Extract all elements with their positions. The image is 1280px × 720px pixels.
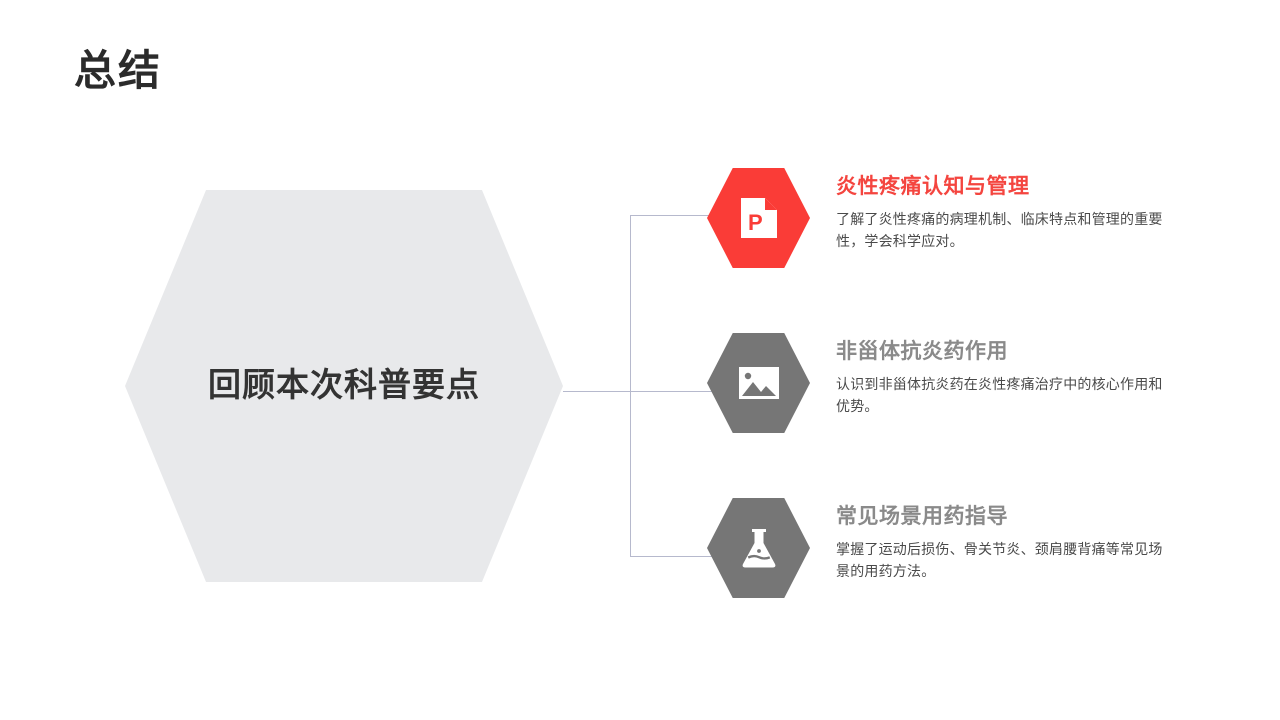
summary-item-1-description: 了解了炎性疼痛的病理机制、临床特点和管理的重要性，学会科学应对。: [836, 209, 1176, 252]
summary-item-1-title: 炎性疼痛认知与管理: [836, 174, 1176, 199]
central-hexagon: 回顾本次科普要点: [125, 190, 563, 582]
summary-item-3-description: 掌握了运动后损伤、骨关节炎、颈肩腰背痛等常见场景的用药方法。: [836, 539, 1176, 582]
hexagon-badge-3[interactable]: [707, 498, 810, 598]
hexagon-badge-2[interactable]: [707, 333, 810, 433]
slide-canvas: 总结 回顾本次科普要点 P 炎性疼痛认知与管理: [0, 0, 1280, 720]
connector-spine: [630, 215, 631, 557]
summary-item-3[interactable]: 常见场景用药指导 掌握了运动后损伤、骨关节炎、颈肩腰背痛等常见场景的用药方法。: [707, 498, 1177, 618]
central-hexagon-label: 回顾本次科普要点: [208, 358, 480, 406]
hexagon-badge-1-wrapper: P: [707, 168, 810, 268]
summary-item-2[interactable]: 非甾体抗炎药作用 认识到非甾体抗炎药在炎性疼痛治疗中的核心作用和优势。: [707, 333, 1177, 453]
page-title: 总结: [74, 48, 162, 94]
flask-lab-icon: [739, 526, 779, 570]
summary-item-3-title: 常见场景用药指导: [836, 504, 1176, 529]
hexagon-badge-1[interactable]: P: [707, 168, 810, 268]
summary-item-2-description: 认识到非甾体抗炎药在炎性疼痛治疗中的核心作用和优势。: [836, 374, 1176, 417]
summary-item-2-title: 非甾体抗炎药作用: [836, 339, 1176, 364]
hexagon-badge-3-wrapper: [707, 498, 810, 598]
summary-item-1-text: 炎性疼痛认知与管理 了解了炎性疼痛的病理机制、临床特点和管理的重要性，学会科学应…: [836, 174, 1176, 253]
image-picture-icon: [738, 366, 780, 400]
summary-item-2-text: 非甾体抗炎药作用 认识到非甾体抗炎药在炎性疼痛治疗中的核心作用和优势。: [836, 339, 1176, 418]
connector-stem: [563, 391, 630, 392]
summary-item-3-text: 常见场景用药指导 掌握了运动后损伤、骨关节炎、颈肩腰背痛等常见场景的用药方法。: [836, 504, 1176, 583]
presentation-file-icon: P: [739, 196, 779, 240]
svg-text:P: P: [748, 210, 763, 235]
hexagon-badge-2-wrapper: [707, 333, 810, 433]
summary-item-1[interactable]: P 炎性疼痛认知与管理 了解了炎性疼痛的病理机制、临床特点和管理的重要性，学会科…: [707, 168, 1177, 288]
